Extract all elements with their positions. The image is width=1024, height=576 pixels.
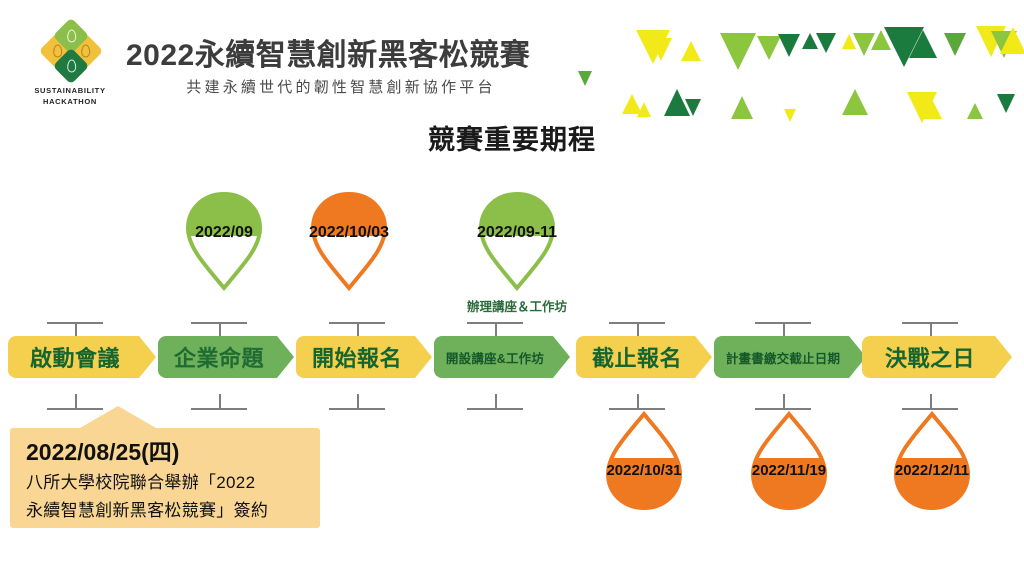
logo-wordmark: SUSTAINABILITY HACKATHON [18,86,122,108]
triangle-decoration [550,8,1024,120]
triangle-shape [637,102,651,117]
upper-pin-2: 2022/10/03 [305,188,393,296]
event-title: 2022永續智慧創新黑客松競賽 [126,30,556,74]
triangle-shape [578,71,592,86]
tick-bottom-stem [930,394,932,408]
tick-bottom-stem [783,394,785,408]
timeline-step-2[interactable]: 企業命題 [158,336,294,378]
logo-mark [44,24,98,80]
triangle-shape [944,33,966,56]
upper-pin-3: 2022/09-11辦理講座＆工作坊 [473,188,561,296]
timeline-step-7[interactable]: 決戰之日 [862,336,1012,378]
timeline-bar: 啟動會議企業命題開始報名開設講座&工作坊截止報名計畫書繳交截止日期決戰之日 [0,336,1024,380]
tick-top-stem [75,322,77,336]
triangle-shape [909,30,937,58]
tick-bottom-bar [467,408,523,410]
lower-drop-1: 2022/10/31 [600,410,688,514]
page-header: SUSTAINABILITY HACKATHON 2022永續智慧創新黑客松競賽… [0,0,1024,118]
triangle-shape [681,41,701,61]
triangle-shape [720,33,756,70]
upper-pin-caption: 辦理講座＆工作坊 [439,296,595,315]
timeline-step-label: 截止報名 [592,341,682,373]
callout-box: 2022/08/25(四) 八所大學校院聯合舉辦「2022 永續智慧創新黑客松競… [10,428,320,528]
map-pin-icon [180,188,268,296]
lower-drop-date: 2022/12/11 [876,462,988,479]
logo-wordmark-line-2: HACKATHON [18,97,122,108]
tick-top-stem [930,322,932,336]
tick-top-stem [637,322,639,336]
tick-top-stem [219,322,221,336]
event-subtitle: 共建永續世代的韌性智慧創新協作平台 [126,76,556,97]
triangle-shape [842,89,868,115]
lower-drop-date: 2022/10/31 [588,462,700,479]
callout-line-2: 永續智慧創新黑客松競賽」簽約 [26,496,268,521]
tick-bottom-stem [495,394,497,408]
map-pin-icon [473,188,561,296]
triangle-shape [816,33,836,53]
tick-bottom-bar [191,408,247,410]
lower-drop-2: 2022/11/19 [745,410,833,514]
tick-bottom-stem [637,394,639,408]
tick-top-stem [357,322,359,336]
tick-top-stem [495,322,497,336]
tick-top-stem [783,322,785,336]
triangle-shape [731,96,753,119]
triangle-shape [778,34,800,57]
timeline-step-6[interactable]: 計畫書繳交截止日期 [714,336,866,378]
triangle-shape [685,99,701,116]
timeline-step-3[interactable]: 開始報名 [296,336,432,378]
triangle-shape [650,38,672,61]
callout-line-1: 八所大學校院聯合舉辦「2022 [26,468,255,493]
timeline-step-5[interactable]: 截止報名 [576,336,712,378]
upper-pin-date: 2022/09 [170,224,278,242]
map-pin-icon [305,188,393,296]
lower-drop-3: 2022/12/11 [888,410,976,514]
logo: SUSTAINABILITY HACKATHON [18,24,122,112]
timeline-step-label: 啟動會議 [30,341,120,373]
callout-pointer-icon [80,406,156,428]
tick-bottom-bar [329,408,385,410]
triangle-shape [967,103,983,119]
triangle-shape [997,94,1015,113]
callout-date: 2022/08/25(四) [26,433,179,467]
upper-pin-date: 2022/10/03 [295,224,403,242]
timeline-step-1[interactable]: 啟動會議 [8,336,156,378]
timeline-step-label: 企業命題 [174,341,264,373]
upper-pin-1: 2022/09 [180,188,268,296]
logo-wordmark-line-1: SUSTAINABILITY [18,86,122,97]
timeline-step-label: 決戰之日 [885,341,975,373]
timeline-step-label: 開始報名 [312,341,402,373]
timeline-step-label: 計畫書繳交截止日期 [726,348,840,367]
timeline-step-label: 開設講座&工作坊 [446,348,544,367]
page-title: 競賽重要期程 [0,118,1024,157]
tick-bottom-stem [75,394,77,408]
tick-bottom-stem [219,394,221,408]
triangle-shape [1000,27,1024,54]
lower-drop-date: 2022/11/19 [733,462,845,479]
triangle-shape [922,99,942,119]
timeline-step-4[interactable]: 開設講座&工作坊 [434,336,570,378]
tick-bottom-stem [357,394,359,408]
upper-pin-date: 2022/09-11 [463,224,571,242]
